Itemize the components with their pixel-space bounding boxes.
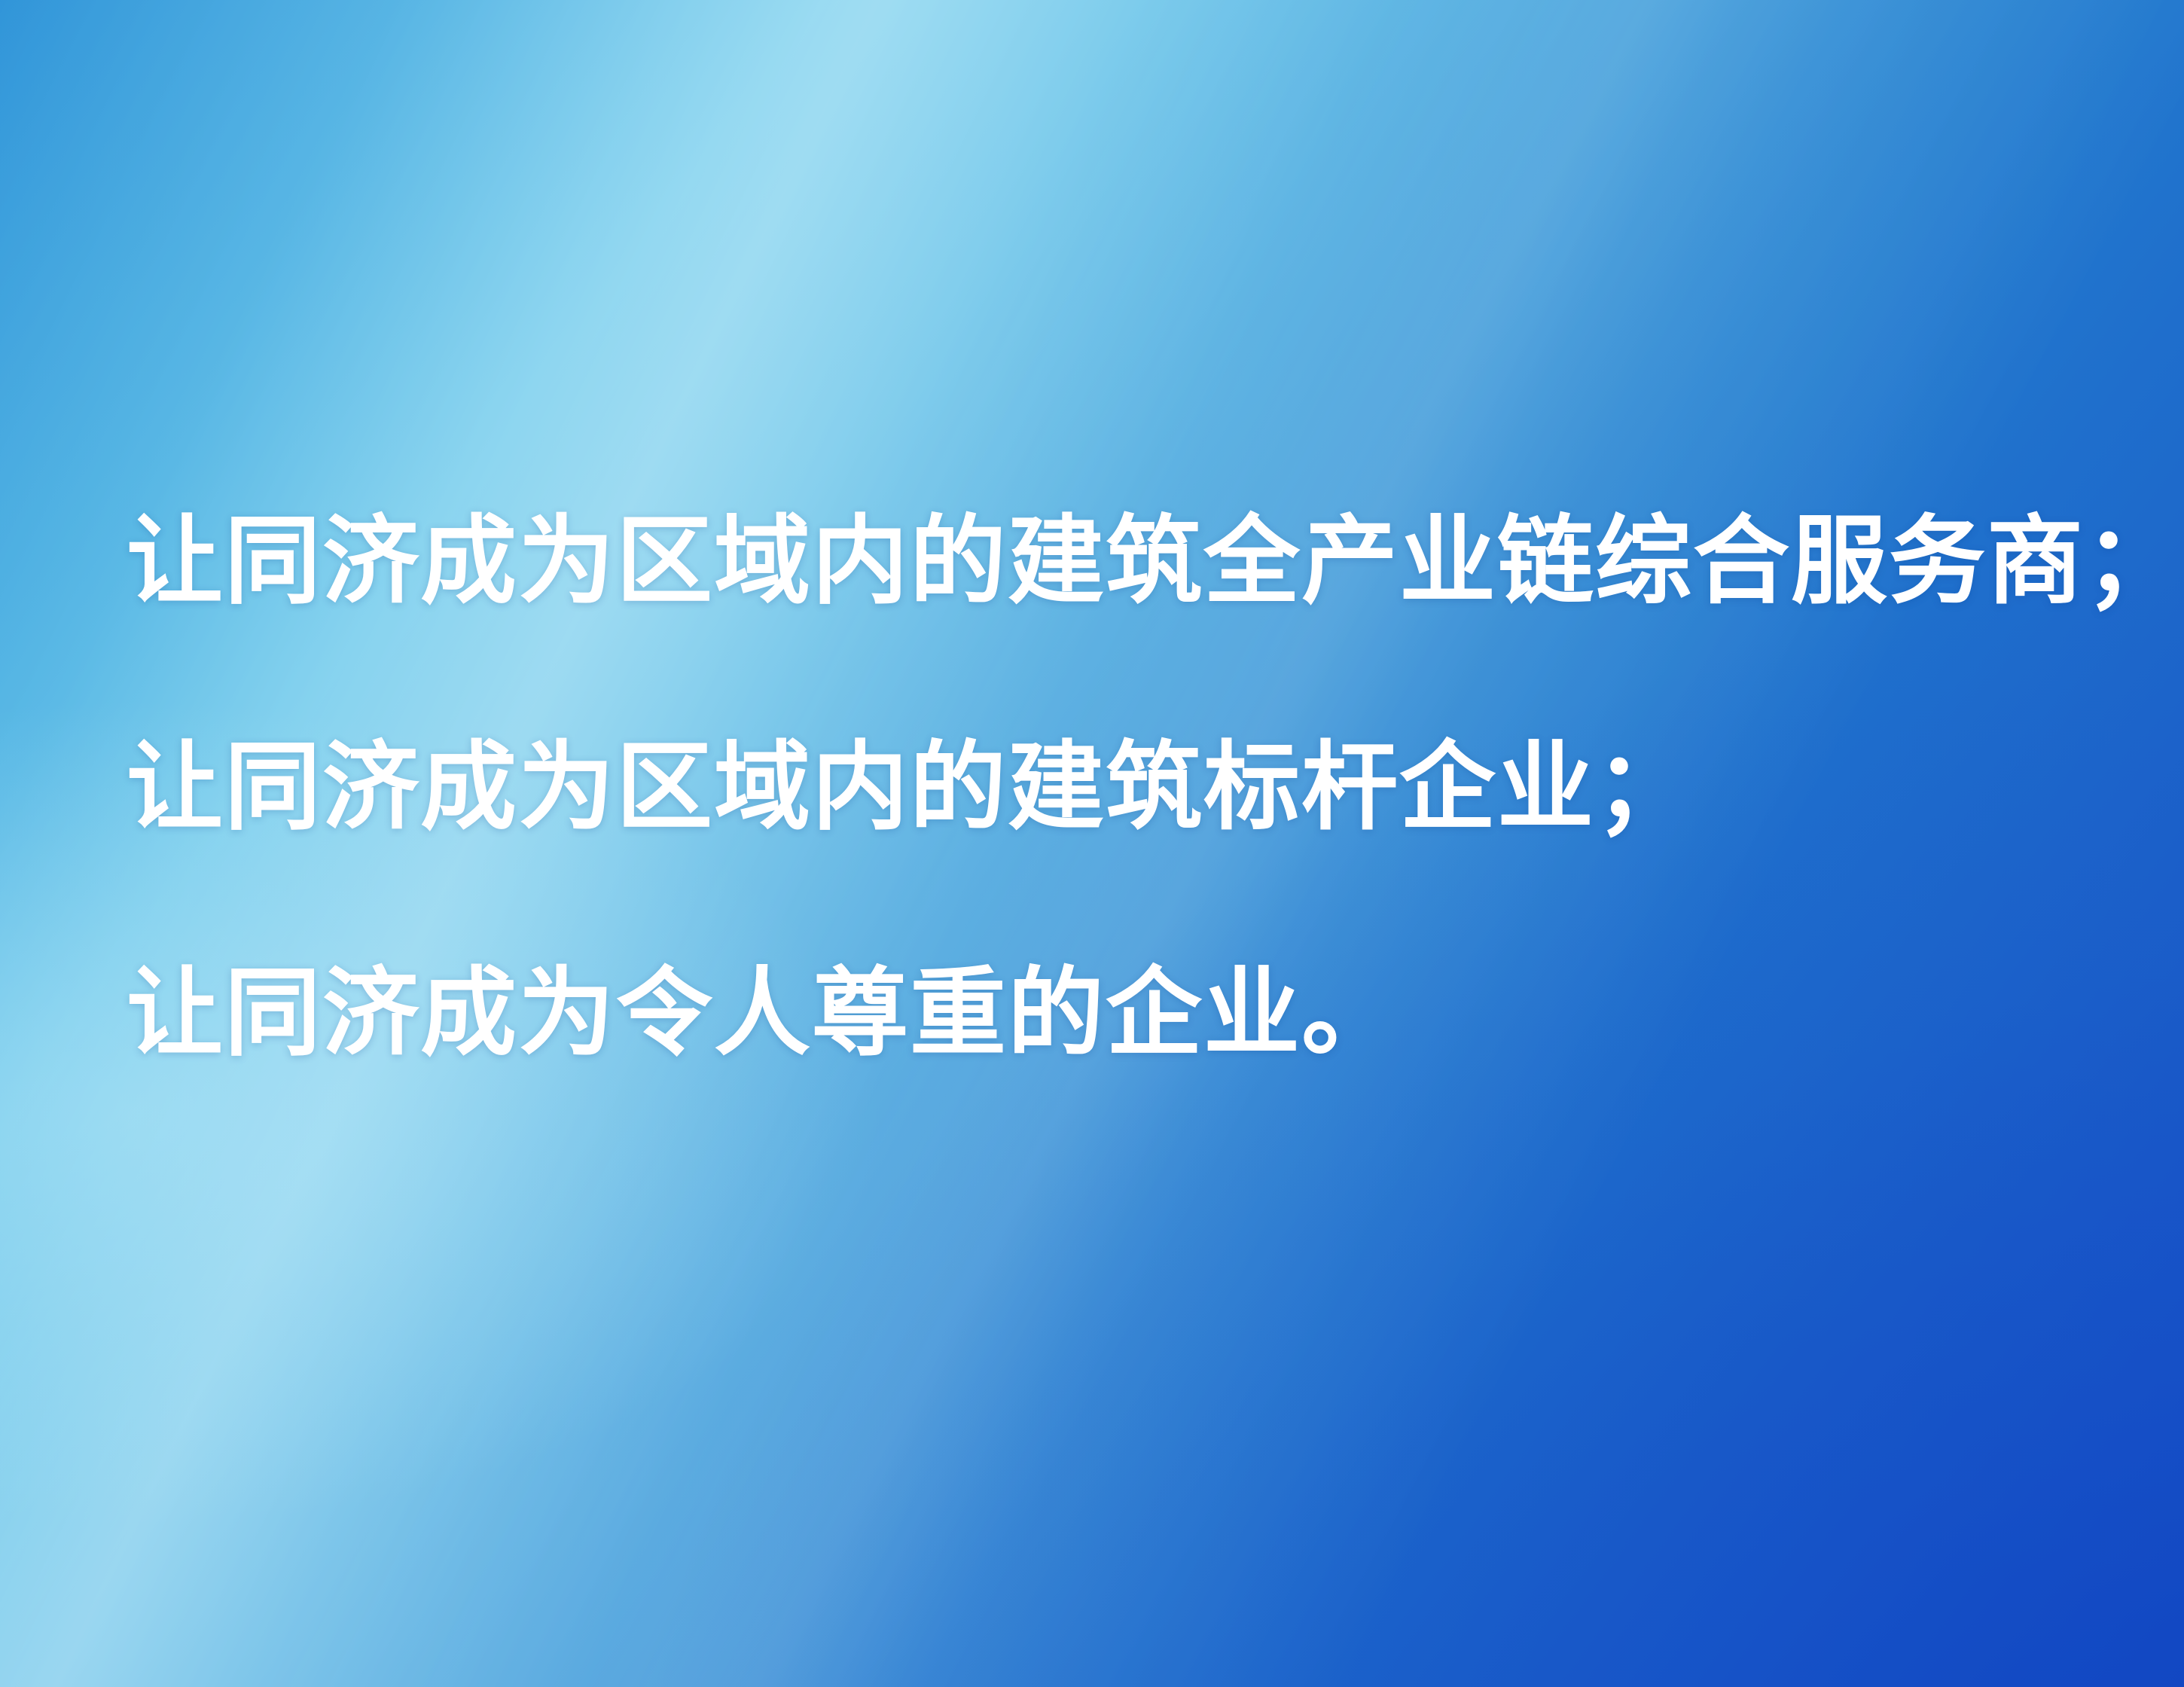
slide-line-2: 让同济成为区域内的建筑标杆企业； xyxy=(127,675,2122,901)
slide-root: 让同济成为区域内的建筑全产业链综合服务商； 让同济成为区域内的建筑标杆企业； 让… xyxy=(0,0,2184,1687)
slide-text-block: 让同济成为区域内的建筑全产业链综合服务商； 让同济成为区域内的建筑标杆企业； 让… xyxy=(127,449,2122,1127)
slide-line-1: 让同济成为区域内的建筑全产业链综合服务商； xyxy=(127,449,2122,675)
slide-line-3: 让同济成为令人尊重的企业。 xyxy=(127,901,2122,1127)
